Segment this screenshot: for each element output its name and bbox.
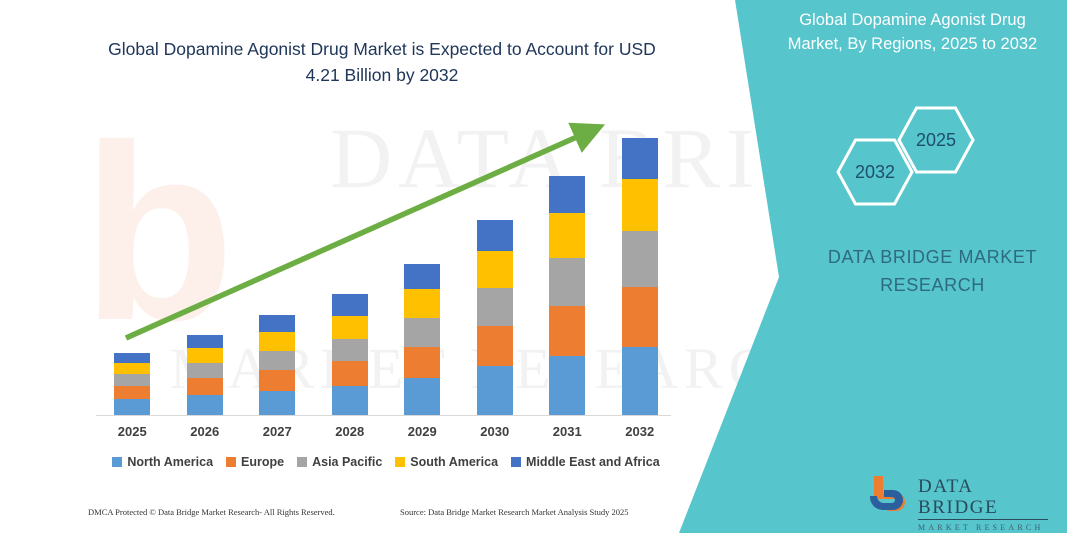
legend-swatch (226, 457, 236, 467)
hex-badge-2032-label: 2032 (855, 162, 895, 183)
legend-item[interactable]: North America (112, 455, 213, 469)
bar-segment (549, 176, 585, 213)
bar-2029 (404, 264, 440, 416)
hex-badge-2025-label: 2025 (916, 130, 956, 151)
x-axis-label-2030: 2030 (465, 424, 525, 439)
footer: DMCA Protected © Data Bridge Market Rese… (0, 507, 700, 523)
bridge-b-mark-icon (868, 472, 914, 518)
bar-2027 (259, 315, 295, 416)
legend-swatch (395, 457, 405, 467)
footer-copyright: DMCA Protected © Data Bridge Market Rese… (88, 507, 335, 517)
bar-segment (114, 399, 150, 416)
bar-segment (477, 288, 513, 326)
panel-title: Global Dopamine Agonist Drug Market, By … (770, 8, 1055, 56)
bar-segment (332, 294, 368, 316)
bar-segment (477, 220, 513, 251)
bar-segment (187, 348, 223, 363)
bar-segment (549, 213, 585, 258)
x-axis-label-2032: 2032 (610, 424, 670, 439)
bar-segment (622, 179, 658, 231)
hex-badge-2025: 2025 (897, 106, 975, 174)
bar-segment (114, 374, 150, 386)
bar-segment (549, 356, 585, 416)
bar-segment (404, 378, 440, 416)
bar-2025 (114, 353, 150, 416)
bar-segment (187, 335, 223, 348)
x-axis-label-2026: 2026 (175, 424, 235, 439)
legend-label: Europe (241, 455, 284, 469)
x-axis-label-2028: 2028 (320, 424, 380, 439)
bar-segment (477, 366, 513, 416)
legend-item[interactable]: Europe (226, 455, 284, 469)
bar-segment (259, 391, 295, 416)
legend-label: Asia Pacific (312, 455, 382, 469)
bar-segment (332, 361, 368, 386)
bar-2026 (187, 335, 223, 416)
bar-segment (114, 386, 150, 399)
x-axis-label-2025: 2025 (102, 424, 162, 439)
bar-segment (187, 395, 223, 416)
x-axis-label-2027: 2027 (247, 424, 307, 439)
bar-segment (114, 353, 150, 363)
panel-brand-text: DATA BRIDGE MARKET RESEARCH (800, 243, 1065, 299)
bar-segment (259, 370, 295, 391)
bar-segment (549, 258, 585, 306)
bar-segment (477, 251, 513, 288)
bar-2031 (549, 176, 585, 416)
legend-label: South America (410, 455, 498, 469)
chart-legend: North AmericaEuropeAsia PacificSouth Ame… (96, 455, 676, 469)
bar-segment (259, 351, 295, 370)
chart-title: Global Dopamine Agonist Drug Market is E… (92, 36, 672, 88)
footer-source: Source: Data Bridge Market Research Mark… (400, 507, 629, 517)
bar-segment (622, 347, 658, 416)
bar-segment (404, 318, 440, 347)
bar-segment (332, 339, 368, 361)
axis-baseline (96, 415, 671, 416)
infographic-root: b DATA BRIDGE MARKET RESEARCH Global Dop… (0, 0, 1067, 533)
legend-label: North America (127, 455, 213, 469)
bar-segment (404, 264, 440, 289)
bar-segment (622, 138, 658, 179)
bar-segment (259, 332, 295, 351)
bar-chart-plot (96, 110, 676, 416)
bar-segment (549, 306, 585, 356)
x-axis-labels: 20252026202720282029203020312032 (96, 424, 676, 446)
legend-item[interactable]: South America (395, 455, 498, 469)
legend-swatch (511, 457, 521, 467)
company-logo: DATA BRIDGE MARKET RESEARCH (868, 472, 1048, 520)
legend-item[interactable]: Asia Pacific (297, 455, 382, 469)
bar-2032 (622, 138, 658, 416)
bar-2028 (332, 294, 368, 416)
logo-line2: MARKET RESEARCH (918, 523, 1048, 532)
bar-segment (332, 316, 368, 339)
x-axis-label-2029: 2029 (392, 424, 452, 439)
bar-segment (404, 347, 440, 378)
legend-swatch (112, 457, 122, 467)
bar-segment (404, 289, 440, 318)
legend-label: Middle East and Africa (526, 455, 660, 469)
logo-wordmark: DATA BRIDGE MARKET RESEARCH (918, 476, 1048, 532)
bar-segment (187, 378, 223, 395)
bar-segment (259, 315, 295, 332)
bar-segment (622, 287, 658, 347)
bar-segment (114, 363, 150, 374)
x-axis-label-2031: 2031 (537, 424, 597, 439)
bar-segment (332, 386, 368, 416)
logo-line1: DATA BRIDGE (918, 476, 1048, 520)
bar-segment (187, 363, 223, 378)
bar-2030 (477, 220, 513, 416)
bar-segment (622, 231, 658, 287)
legend-item[interactable]: Middle East and Africa (511, 455, 660, 469)
bar-segment (477, 326, 513, 366)
legend-swatch (297, 457, 307, 467)
